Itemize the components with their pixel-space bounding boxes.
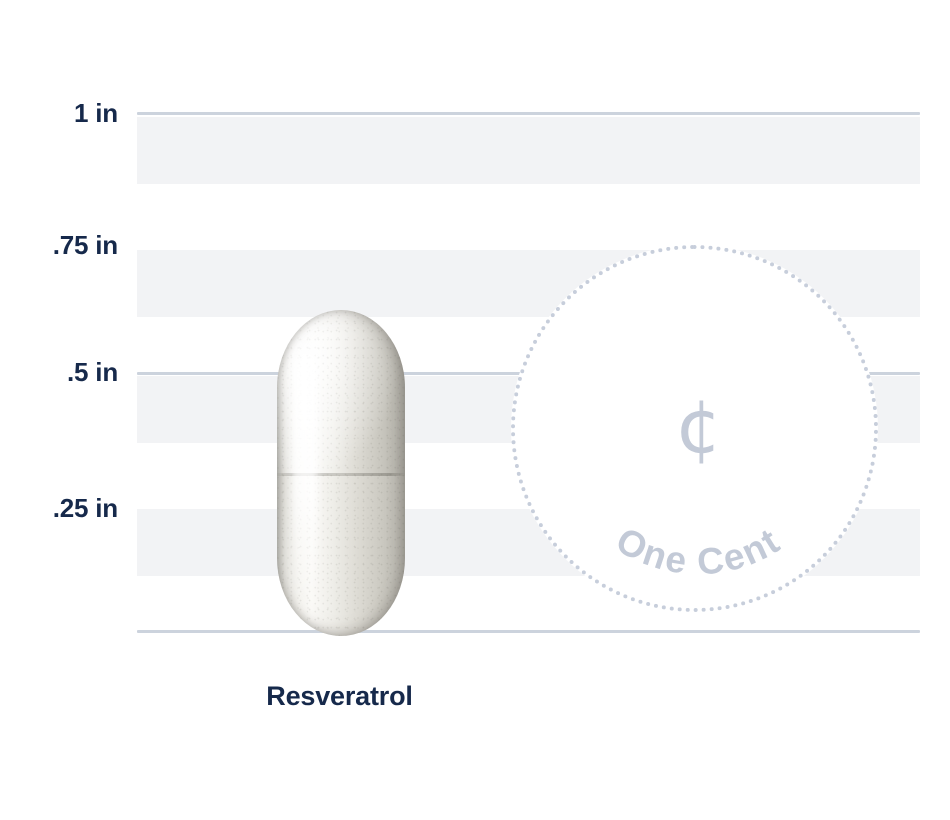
y-axis-labels: 1 in .75 in .5 in .25 in [0,0,118,820]
capsule-edge-shading [277,310,405,636]
resveratrol-capsule [277,310,405,636]
gridline-baseline [137,630,920,633]
y-tick-label-75in: .75 in [0,232,118,258]
y-tick-label-1in: 1 in [0,100,118,126]
penny-arc-text: One Cent [515,249,882,616]
y-tick-label-5in: .5 in [0,359,118,385]
size-comparison-chart: 1 in .75 in .5 in .25 in ¢ One Cent [0,0,950,820]
svg-text:One Cent: One Cent [609,519,787,583]
product-name-label: Resveratrol [177,680,502,712]
penny-reference: ¢ One Cent [511,245,878,612]
gridline-1in [137,112,920,115]
y-tick-label-25in: .25 in [0,495,118,521]
one-cent-label: One Cent [609,519,787,583]
shaded-band-1 [137,117,920,184]
